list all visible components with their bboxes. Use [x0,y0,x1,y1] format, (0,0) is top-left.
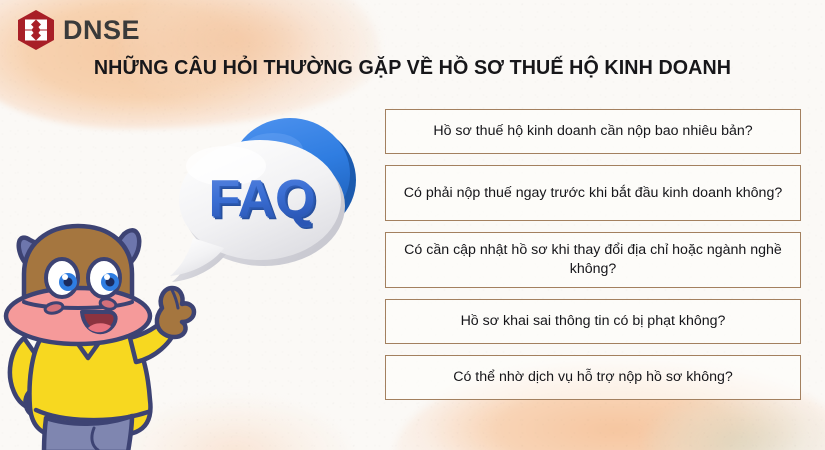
brand-logo[interactable]: DNSE [18,10,140,50]
faq-question-box[interactable]: Có thể nhờ dịch vụ hỗ trợ nộp hồ sơ khôn… [385,355,801,400]
buffalo-mascot-icon [2,212,207,450]
faq-question-text: Có thể nhờ dịch vụ hỗ trợ nộp hồ sơ khôn… [453,368,733,387]
watercolor-blob-top-left-secondary [120,0,380,110]
infographic-canvas: DNSE NHỮNG CÂU HỎI THƯỜNG GẶP VỀ HỒ SƠ T… [0,0,825,450]
faq-question-text: Hồ sơ khai sai thông tin có bị phạt khôn… [461,312,726,331]
faq-question-text: Có phải nộp thuế ngay trước khi bắt đầu … [404,184,782,203]
page-title: NHỮNG CÂU HỎI THƯỜNG GẶP VỀ HỒ SƠ THUẾ H… [17,56,809,80]
faq-question-box[interactable]: Có cần cập nhật hồ sơ khi thay đổi địa c… [385,232,801,288]
faq-bubble-label: FAQ [209,170,316,228]
faq-question-box[interactable]: Hồ sơ thuế hộ kinh doanh cần nộp bao nhi… [385,109,801,154]
watercolor-blob-bottom-right-green [645,395,825,450]
buffalo-mascot [2,212,207,450]
faq-question-text: Có cần cập nhật hồ sơ khi thay đổi địa c… [400,241,786,278]
dnse-hexagon-logo-icon [18,10,54,50]
faq-question-list: Hồ sơ thuế hộ kinh doanh cần nộp bao nhi… [385,109,801,400]
faq-question-box[interactable]: Hồ sơ khai sai thông tin có bị phạt khôn… [385,299,801,344]
brand-name: DNSE [63,17,140,44]
faq-question-text: Hồ sơ thuế hộ kinh doanh cần nộp bao nhi… [433,122,752,141]
faq-question-box[interactable]: Có phải nộp thuế ngay trước khi bắt đầu … [385,165,801,221]
